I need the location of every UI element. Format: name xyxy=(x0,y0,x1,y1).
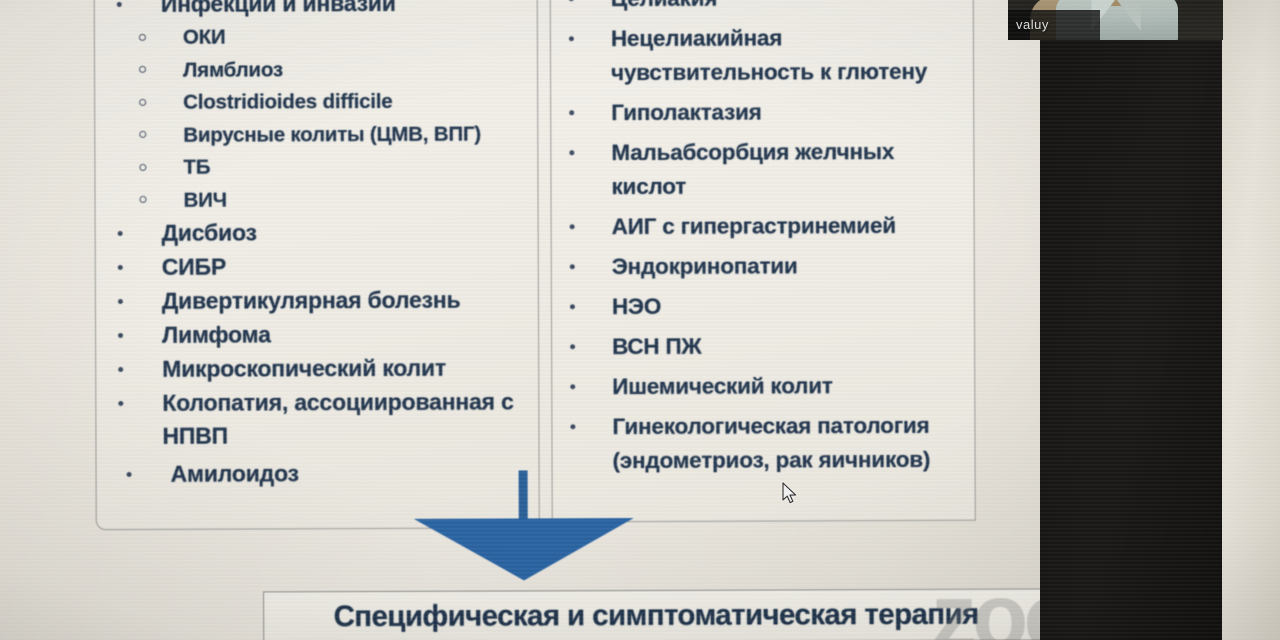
list-item-label: АИГ с гипергастринемией xyxy=(612,209,970,244)
list-item-label: Clostridioides difficile xyxy=(183,85,533,119)
participant-name-label: valuy xyxy=(1016,17,1049,32)
list-item-label: Эндокринопатии xyxy=(612,249,970,284)
bullet-dot-icon xyxy=(118,401,123,406)
list-item[interactable]: Гиполактазия xyxy=(569,95,969,131)
list-item-label: Вирусные колиты (ЦМВ, ВПГ) xyxy=(183,118,533,152)
bullet-ring-icon xyxy=(139,99,146,106)
list-item-label: Амилоидоз xyxy=(163,456,535,490)
therapy-banner-label: Специфическая и симптоматическая терапия xyxy=(334,598,979,634)
zoom-app-sidebar xyxy=(1040,0,1236,640)
list-item-label: Мальабсорбция желчных кислот xyxy=(611,135,969,204)
list-item[interactable]: Нецелиакийная чувствительность к глютену xyxy=(569,21,969,91)
list-item-label: Нецелиакийная чувствительность к глютену xyxy=(611,21,969,90)
bullet-dot-icon xyxy=(118,231,123,236)
therapy-banner: Специфическая и симптоматическая терапия xyxy=(263,588,1049,640)
bullet-dot-icon xyxy=(118,333,123,338)
infections-sublist: ОКИ Лямблиоз Clostridioides difficile Ви… xyxy=(117,20,534,217)
right-differential-list: Целиакия Нецелиакийная чувствительность … xyxy=(569,0,971,484)
left-differential-list: Инфекции и инвазии ОКИ Лямблиоз Clostrid… xyxy=(117,0,535,492)
bullet-dot-icon xyxy=(127,472,132,477)
participant-video-tile[interactable]: valuy xyxy=(1008,0,1223,40)
bullet-dot-icon xyxy=(569,36,574,41)
list-item[interactable]: Лимфома xyxy=(118,317,534,352)
bullet-dot-icon xyxy=(569,150,574,155)
list-item[interactable]: Микроскопический колит xyxy=(118,351,534,386)
list-item[interactable]: Амилоидоз xyxy=(119,456,535,491)
bullet-ring-icon xyxy=(139,66,146,73)
list-item-label: ВСН ПЖ xyxy=(612,329,970,364)
list-item[interactable]: ВИЧ xyxy=(139,183,533,217)
list-item[interactable]: Вирусные колиты (ЦМВ, ВПГ) xyxy=(139,118,533,152)
bullet-dot-icon xyxy=(117,2,122,7)
list-item-label: Дисбиоз xyxy=(162,215,534,249)
list-item[interactable]: ТБ xyxy=(139,150,533,184)
list-item-label: Колопатия, ассоциированная с НПВП xyxy=(162,385,534,452)
list-item[interactable]: АИГ с гипергастринемией xyxy=(570,209,970,245)
list-item-label: Ишемический колит xyxy=(612,369,970,404)
list-item-label: Инфекции и инвазии xyxy=(161,0,533,21)
bullet-dot-icon xyxy=(570,264,575,269)
list-item[interactable]: Мальабсорбция желчных кислот xyxy=(569,135,969,205)
bullet-ring-icon xyxy=(139,131,146,138)
list-item-label: ОКИ xyxy=(183,20,533,54)
list-item-label: ВИЧ xyxy=(183,183,533,217)
list-item[interactable]: Дисбиоз xyxy=(118,215,534,250)
list-item-label: Гиполактазия xyxy=(611,95,969,130)
list-item-label: Лимфома xyxy=(162,317,534,351)
bullet-ring-icon xyxy=(139,34,146,41)
list-item[interactable]: Дивертикулярная болезнь xyxy=(118,283,534,318)
list-item[interactable]: Гинекологическая патология (эндометриоз,… xyxy=(570,409,970,479)
bullet-dot-icon xyxy=(569,0,574,1)
down-arrow-icon xyxy=(414,518,634,581)
list-item[interactable]: НЭО xyxy=(570,289,970,325)
bullet-dot-icon xyxy=(569,110,574,115)
flow-arrow-stem xyxy=(519,470,528,518)
list-item-label: НЭО xyxy=(612,289,970,324)
bullet-dot-icon xyxy=(570,384,575,389)
list-item[interactable]: ОКИ xyxy=(139,20,533,54)
screenshot-root: Инфекции и инвазии ОКИ Лямблиоз Clostrid… xyxy=(0,0,1280,640)
bullet-dot-icon xyxy=(118,265,123,270)
list-item-label: Дивертикулярная болезнь xyxy=(162,283,534,317)
bullet-dot-icon xyxy=(118,367,123,372)
bullet-ring-icon xyxy=(139,164,146,171)
list-item[interactable]: Clostridioides difficile xyxy=(139,85,533,119)
list-item[interactable]: Инфекции и инвазии xyxy=(117,0,533,21)
bullet-dot-icon xyxy=(570,424,575,429)
bullet-dot-icon xyxy=(570,344,575,349)
list-item[interactable]: Лямблиоз xyxy=(139,53,533,87)
list-item[interactable]: Колопатия, ассоциированная с НПВП xyxy=(118,385,534,453)
list-item[interactable]: Ишемический колит xyxy=(570,369,970,405)
list-item-label: Микроскопический колит xyxy=(162,351,534,385)
list-item-label: ТБ xyxy=(183,150,533,184)
screen-bezel-right xyxy=(1222,0,1280,640)
bullet-dot-icon xyxy=(570,224,575,229)
list-item[interactable]: СИБР xyxy=(118,249,534,284)
bullet-ring-icon xyxy=(140,196,147,203)
list-item[interactable]: Эндокринопатии xyxy=(570,249,970,285)
list-item-label: Гинекологическая патология (эндометриоз,… xyxy=(612,409,970,478)
list-item[interactable]: ВСН ПЖ xyxy=(570,329,970,365)
list-item-label: Лямблиоз xyxy=(183,53,533,87)
list-item[interactable]: Целиакия xyxy=(569,0,969,16)
bullet-dot-icon xyxy=(570,304,575,309)
list-item-label: Целиакия xyxy=(611,0,969,16)
bullet-dot-icon xyxy=(118,299,123,304)
mouse-cursor-icon xyxy=(782,482,798,506)
list-item-label: СИБР xyxy=(162,249,534,283)
